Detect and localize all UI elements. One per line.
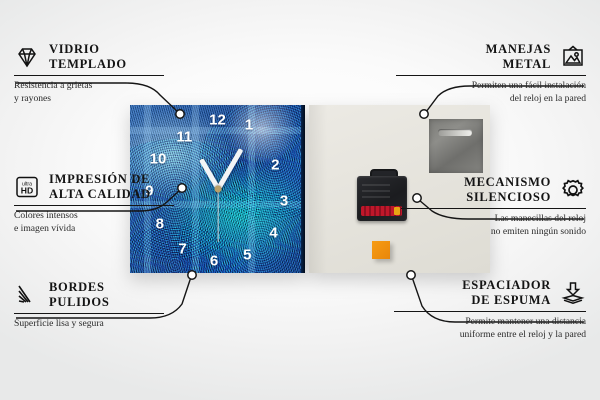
clock-numeral-4: 4 [269, 225, 277, 240]
callout-divider [14, 205, 174, 207]
callout-divider [14, 75, 164, 77]
clock-hand-cap [214, 186, 221, 193]
foam-spacer [372, 241, 390, 259]
callout-espaciador-de-espuma[interactable]: ESPACIADOR DE ESPUMA Permite mantener un… [394, 278, 586, 341]
mechanism-ridge [362, 196, 390, 198]
polished-edges-icon [14, 283, 40, 307]
callout-header: VIDRIO TEMPLADO [14, 42, 164, 72]
callout-impresion-alta-calidad[interactable]: ultra HD IMPRESIÓN DE ALTA CALIDAD Color… [14, 172, 174, 235]
clock-numeral-10: 10 [150, 151, 167, 166]
callout-title: ESPACIADOR DE ESPUMA [462, 278, 551, 308]
picture-hanger-icon [560, 45, 586, 69]
callout-divider [14, 313, 164, 315]
callout-title: VIDRIO TEMPLADO [49, 42, 127, 72]
callout-bordes-pulidos[interactable]: BORDES PULIDOS Superficie lisa y segura [14, 280, 164, 331]
clock-numeral-12: 12 [209, 113, 226, 128]
clock-edge [301, 105, 305, 273]
mechanism-housing [357, 176, 407, 221]
mechanism-battery [361, 206, 402, 216]
clock-numeral-5: 5 [243, 247, 251, 262]
svg-text:HD: HD [21, 185, 33, 195]
callout-title: MANEJAS METAL [486, 42, 551, 72]
gear-icon [560, 178, 586, 202]
mechanism-ridge [362, 190, 390, 192]
foam-spacer-icon [560, 281, 586, 305]
clock-numeral-1: 1 [245, 118, 253, 133]
callout-manejas-metal[interactable]: MANEJAS METAL Permiten una fácil instala… [396, 42, 586, 105]
callout-header: MECANISMO SILENCIOSO [401, 175, 586, 205]
metal-hanger-plate [429, 119, 483, 173]
callout-header: ESPACIADOR DE ESPUMA [394, 278, 586, 308]
hanger-slot [438, 129, 472, 136]
callout-divider [401, 208, 586, 210]
mechanism-ridge [362, 184, 390, 186]
callout-divider [394, 311, 586, 313]
callout-header: MANEJAS METAL [396, 42, 586, 72]
callout-title: BORDES PULIDOS [49, 280, 109, 310]
callout-title: IMPRESIÓN DE ALTA CALIDAD [49, 172, 151, 202]
clock-numeral-7: 7 [178, 242, 186, 257]
clock-numeral-3: 3 [280, 193, 288, 208]
callout-mecanismo-silencioso[interactable]: MECANISMO SILENCIOSO Las manecillas del … [401, 175, 586, 238]
silent-clock-mechanism [357, 169, 407, 221]
infographic-canvas: 12 1 2 3 4 5 6 7 8 9 10 11 [0, 0, 600, 400]
clock-numeral-6: 6 [210, 254, 218, 269]
diamond-icon [14, 45, 40, 69]
clock-numeral-11: 11 [176, 129, 192, 144]
callout-title: MECANISMO SILENCIOSO [464, 175, 551, 205]
panel-shading [309, 105, 327, 273]
clock-numeral-2: 2 [271, 158, 279, 173]
callout-vidrio-templado[interactable]: VIDRIO TEMPLADO Resistencia a grietas y … [14, 42, 164, 105]
callout-header: BORDES PULIDOS [14, 280, 164, 310]
ultra-hd-icon: ultra HD [14, 175, 40, 199]
callout-divider [396, 75, 586, 77]
callout-header: ultra HD IMPRESIÓN DE ALTA CALIDAD [14, 172, 174, 202]
clock-second-hand [217, 189, 218, 242]
